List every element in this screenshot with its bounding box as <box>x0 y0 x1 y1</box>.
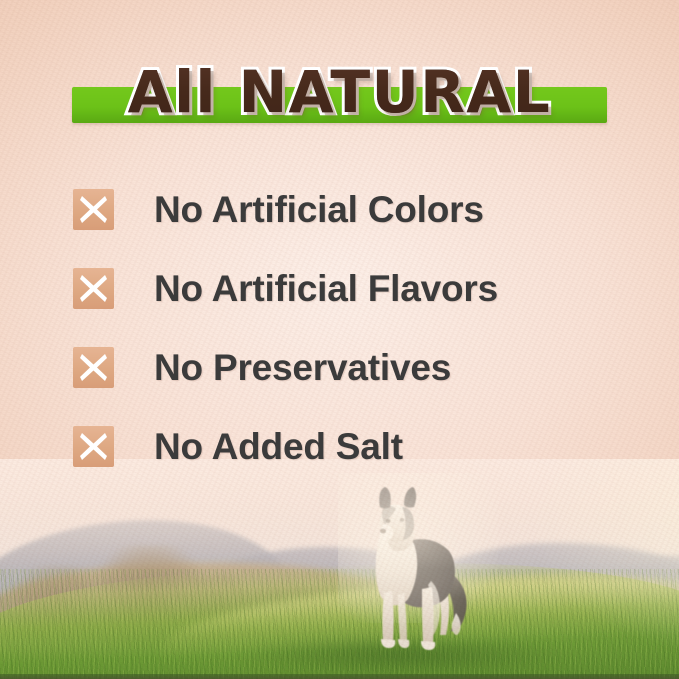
list-item: No Added Salt <box>0 407 679 486</box>
header-banner: All NATURAL All NATURAL <box>0 44 679 140</box>
page-title: All NATURAL <box>0 44 679 140</box>
claim-label: No Artificial Flavors <box>154 268 498 310</box>
border-collie-dog <box>352 485 480 657</box>
landscape-photo <box>0 459 679 679</box>
list-item: No Artificial Flavors <box>0 249 679 328</box>
x-mark-icon <box>73 347 114 388</box>
list-item: No Preservatives <box>0 328 679 407</box>
photo-bottom-edge <box>0 674 679 679</box>
claim-label: No Preservatives <box>154 347 451 389</box>
list-item: No Artificial Colors <box>0 170 679 249</box>
claim-label: No Added Salt <box>154 426 403 468</box>
x-mark-icon <box>73 426 114 467</box>
claim-label: No Artificial Colors <box>154 189 484 231</box>
claims-list: No Artificial Colors No Artificial Flavo… <box>0 170 679 486</box>
x-mark-icon <box>73 189 114 230</box>
x-mark-icon <box>73 268 114 309</box>
product-feature-poster: All NATURAL All NATURAL No Artificial Co… <box>0 0 679 679</box>
